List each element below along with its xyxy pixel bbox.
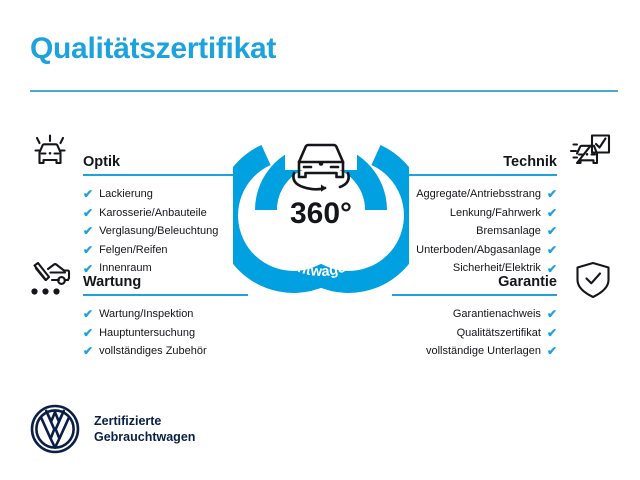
- check-icon: ✔: [83, 244, 93, 256]
- check-icon: ✔: [83, 327, 93, 339]
- list-item: ✔Lackierung: [83, 185, 248, 204]
- list-item: ✔Karosserie/Anbauteile: [83, 204, 248, 223]
- title-divider: [30, 90, 618, 92]
- list-item: ✔Verglasung/Beleuchtung: [83, 222, 248, 241]
- check-icon: ✔: [547, 244, 557, 256]
- check-icon: ✔: [83, 207, 93, 219]
- shield-check-icon: [570, 259, 616, 301]
- section-garantie-list: Garantienachweis✔ Qualitätszertifikat✔ v…: [392, 305, 557, 361]
- check-icon: ✔: [83, 345, 93, 357]
- badge-center-label: 360°: [290, 197, 352, 230]
- section-garantie-header: Garantie: [392, 266, 557, 296]
- list-item: Aggregate/Antriebsstrang✔: [392, 185, 557, 204]
- check-icon: ✔: [547, 327, 557, 339]
- section-technik-list: Aggregate/Antriebsstrang✔ Lenkung/Fahrwe…: [392, 185, 557, 278]
- list-item: vollständige Unterlagen✔: [392, 342, 557, 361]
- list-item-label: Bremsanlage: [476, 222, 541, 241]
- list-item-label: Lackierung: [99, 185, 153, 204]
- check-icon: ✔: [547, 188, 557, 200]
- list-item: ✔vollständiges Zubehör: [83, 342, 248, 361]
- section-optik-divider: [83, 174, 248, 176]
- check-icon: ✔: [547, 345, 557, 357]
- list-item-label: Lenkung/Fahrwerk: [450, 204, 541, 223]
- section-garantie-divider: [392, 294, 557, 296]
- footer-line-1: Zertifizierte: [94, 413, 195, 429]
- check-icon: ✔: [547, 207, 557, 219]
- check-icon: ✔: [547, 308, 557, 320]
- section-wartung-title: Wartung: [83, 274, 141, 290]
- check-icon: ✔: [83, 308, 93, 320]
- list-item-label: vollständige Unterlagen: [426, 342, 541, 361]
- list-item-label: vollständiges Zubehör: [99, 342, 207, 361]
- footer-brand: Zertifizierte Gebrauchtwagen: [30, 404, 195, 454]
- car-checkbox-icon: [567, 130, 613, 172]
- check-icon: ✔: [547, 225, 557, 237]
- section-optik-title: Optik: [83, 154, 120, 170]
- 360-gebrauchtwagen-check-badge: 360° Gebrauchtwagen-Check: [233, 122, 409, 307]
- page-title: Qualitätszertifikat: [30, 32, 276, 66]
- list-item: ✔Felgen/Reifen: [83, 241, 248, 260]
- list-item-label: Wartung/Inspektion: [99, 305, 193, 324]
- certificate-page: Qualitätszertifikat Optik ✔Lackierung ✔K…: [0, 0, 640, 480]
- car-service-tool-icon: [27, 259, 73, 301]
- list-item: ✔Hauptuntersuchung: [83, 324, 248, 343]
- list-item: ✔Wartung/Inspektion: [83, 305, 248, 324]
- volkswagen-logo: [30, 404, 80, 454]
- list-item-label: Verglasung/Beleuchtung: [99, 222, 218, 241]
- section-garantie: Garantie Garantienachweis✔ Qualitätszert…: [392, 266, 557, 377]
- section-technik-title: Technik: [503, 154, 557, 170]
- list-item-label: Garantienachweis: [453, 305, 541, 324]
- list-item: Qualitätszertifikat✔: [392, 324, 557, 343]
- section-garantie-title: Garantie: [498, 274, 557, 290]
- section-wartung-header: Wartung: [83, 266, 248, 296]
- list-item-label: Hauptuntersuchung: [99, 324, 195, 343]
- list-item-label: Felgen/Reifen: [99, 241, 168, 260]
- list-item: Bremsanlage✔: [392, 222, 557, 241]
- section-technik-header: Technik: [392, 146, 557, 176]
- list-item-label: Aggregate/Antriebsstrang: [416, 185, 541, 204]
- footer-text: Zertifizierte Gebrauchtwagen: [94, 413, 195, 445]
- list-item: Lenkung/Fahrwerk✔: [392, 204, 557, 223]
- list-item-label: Qualitätszertifikat: [457, 324, 541, 343]
- list-item: Unterboden/Abgasanlage✔: [392, 241, 557, 260]
- section-wartung: Wartung ✔Wartung/Inspektion ✔Hauptunters…: [83, 266, 248, 377]
- list-item-label: Unterboden/Abgasanlage: [416, 241, 541, 260]
- section-optik-header: Optik: [83, 146, 248, 176]
- list-item: Garantienachweis✔: [392, 305, 557, 324]
- sparkling-car-icon: [27, 130, 73, 172]
- section-wartung-divider: [83, 294, 248, 296]
- check-icon: ✔: [83, 188, 93, 200]
- check-icon: ✔: [83, 225, 93, 237]
- section-wartung-list: ✔Wartung/Inspektion ✔Hauptuntersuchung ✔…: [83, 305, 248, 361]
- section-optik-list: ✔Lackierung ✔Karosserie/Anbauteile ✔Verg…: [83, 185, 248, 278]
- section-technik-divider: [392, 174, 557, 176]
- list-item-label: Karosserie/Anbauteile: [99, 204, 207, 223]
- footer-line-2: Gebrauchtwagen: [94, 429, 195, 445]
